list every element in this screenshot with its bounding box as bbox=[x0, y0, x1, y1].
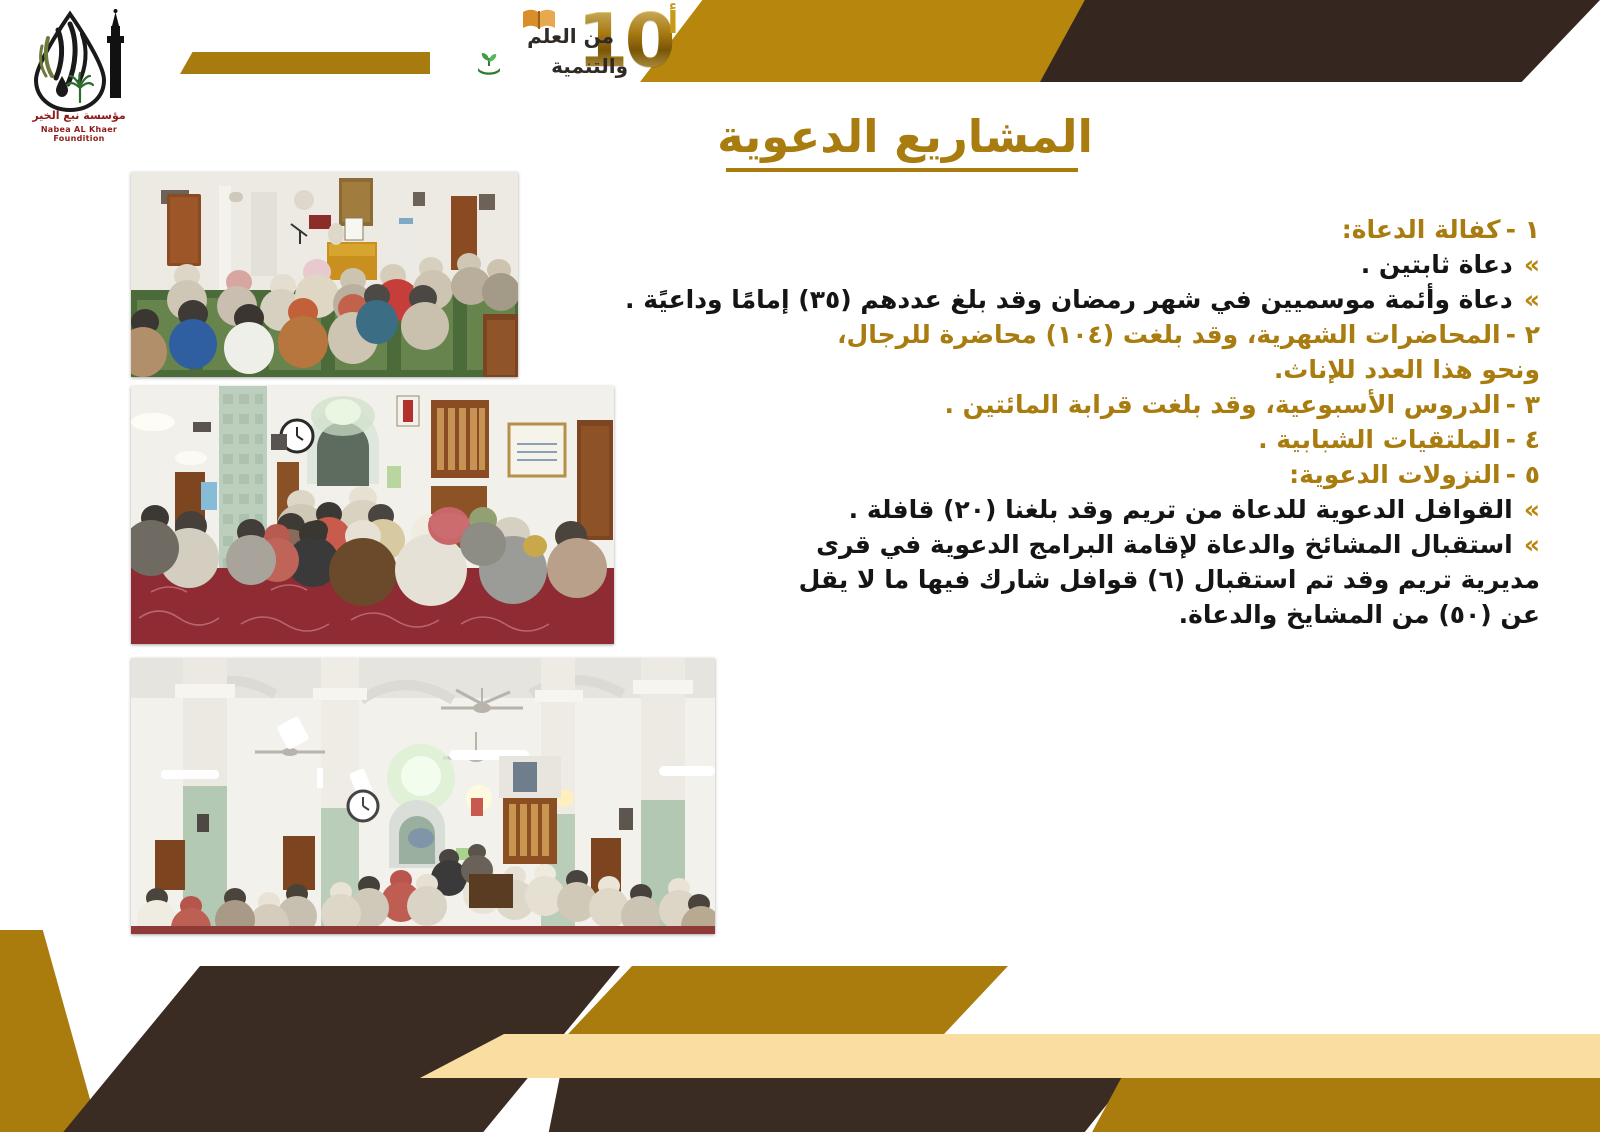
chevron-bullet-icon: » bbox=[1524, 495, 1540, 524]
list-item-2-text: المحاضرات الشهرية، وقد بلغت (١٠٤) محاضرة… bbox=[837, 320, 1500, 349]
photo-mosque-red-carpet-minbar bbox=[131, 386, 614, 644]
list-item-1-text: كفالة الدعاة: bbox=[1342, 215, 1501, 244]
list-item-5-sub-2: » استقبال المشائخ والدعاة لإقامة البرامج… bbox=[780, 527, 1540, 632]
slide-root: مؤسسة نبع الخير Nabea AL Khaer Founditio… bbox=[0, 0, 1600, 1132]
chevron-bullet-icon: » bbox=[1524, 250, 1540, 279]
anniversary-badge: 10 أ من العلم والتنمية bbox=[442, 2, 674, 100]
chevron-bullet-icon: » bbox=[1524, 530, 1540, 559]
list-item-2: ٢ - المحاضرات الشهرية، وقد بلغت (١٠٤) مح… bbox=[780, 317, 1540, 352]
list-item-5-sub-1: » القوافل الدعوية للدعاة من تريم وقد بلغ… bbox=[780, 492, 1540, 527]
chevron-bullet-icon: » bbox=[1524, 285, 1540, 314]
bottom-gold-left-shape bbox=[0, 930, 100, 1132]
page-title: المشاريع الدعوية bbox=[665, 112, 1145, 162]
list-item-3-text: الدروس الأسبوعية، وقد بلغت قرابة المائتي… bbox=[944, 390, 1500, 419]
content-list: ١ - كفالة الدعاة: » دعاة ثابتين . » دعاة… bbox=[780, 212, 1540, 632]
open-book-icon bbox=[522, 8, 556, 30]
list-item-5-number: ٥ - bbox=[1506, 460, 1540, 489]
list-item-5-text: النزولات الدعوية: bbox=[1289, 460, 1500, 489]
list-item-2-continuation-text: ونحو هذا العدد للإناث. bbox=[1274, 355, 1540, 384]
list-item-5: ٥ - النزولات الدعوية: bbox=[780, 457, 1540, 492]
anniversary-alif: أ bbox=[668, 6, 678, 41]
list-item-2-continuation: ونحو هذا العدد للإناث. bbox=[780, 352, 1540, 387]
list-item-4: ٤ - الملتقيات الشبابية . bbox=[780, 422, 1540, 457]
list-item-5-sub-1-text: القوافل الدعوية للدعاة من تريم وقد بلغنا… bbox=[849, 495, 1513, 524]
top-dark-parallelogram bbox=[1040, 0, 1600, 82]
list-item-3: ٣ - الدروس الأسبوعية، وقد بلغت قرابة الم… bbox=[780, 387, 1540, 422]
photo-mosque-lecture-green-carpet bbox=[131, 172, 518, 377]
list-item-1: ١ - كفالة الدعاة: bbox=[780, 212, 1540, 247]
list-item-2-number: ٢ - bbox=[1506, 320, 1540, 349]
list-item-1-sub-1: » دعاة ثابتين . bbox=[780, 247, 1540, 282]
list-item-1-sub-2: » دعاة وأئمة موسميين في شهر رمضان وقد بل… bbox=[780, 282, 1540, 317]
list-item-1-number: ١ - bbox=[1506, 215, 1540, 244]
bottom-dark-lower-band bbox=[548, 1078, 1128, 1132]
bottom-cream-band bbox=[420, 1034, 1600, 1078]
seedling-in-hand-icon bbox=[474, 50, 504, 76]
photo-large-mosque-hall bbox=[131, 658, 715, 934]
anniversary-line2: والتنمية bbox=[551, 54, 628, 78]
list-item-1-sub-1-text: دعاة ثابتين . bbox=[1361, 250, 1513, 279]
foundation-logo: مؤسسة نبع الخير Nabea AL Khaer Founditio… bbox=[18, 6, 140, 146]
bottom-gold-lower-band bbox=[1090, 1078, 1600, 1132]
logo-name-arabic: مؤسسة نبع الخير bbox=[18, 110, 140, 123]
list-item-5-sub-2-text: استقبال المشائخ والدعاة لإقامة البرامج ا… bbox=[799, 530, 1540, 629]
logo-mark-icon bbox=[18, 6, 140, 116]
logo-name-english: Nabea AL Khaer Foundition bbox=[18, 125, 140, 143]
list-item-3-number: ٣ - bbox=[1506, 390, 1540, 419]
title-underline bbox=[726, 168, 1078, 172]
list-item-4-number: ٤ - bbox=[1506, 425, 1540, 454]
top-gold-accent-bar bbox=[180, 52, 430, 74]
list-item-4-text: الملتقيات الشبابية . bbox=[1258, 425, 1500, 454]
list-item-1-sub-2-text: دعاة وأئمة موسميين في شهر رمضان وقد بلغ … bbox=[625, 285, 1513, 314]
